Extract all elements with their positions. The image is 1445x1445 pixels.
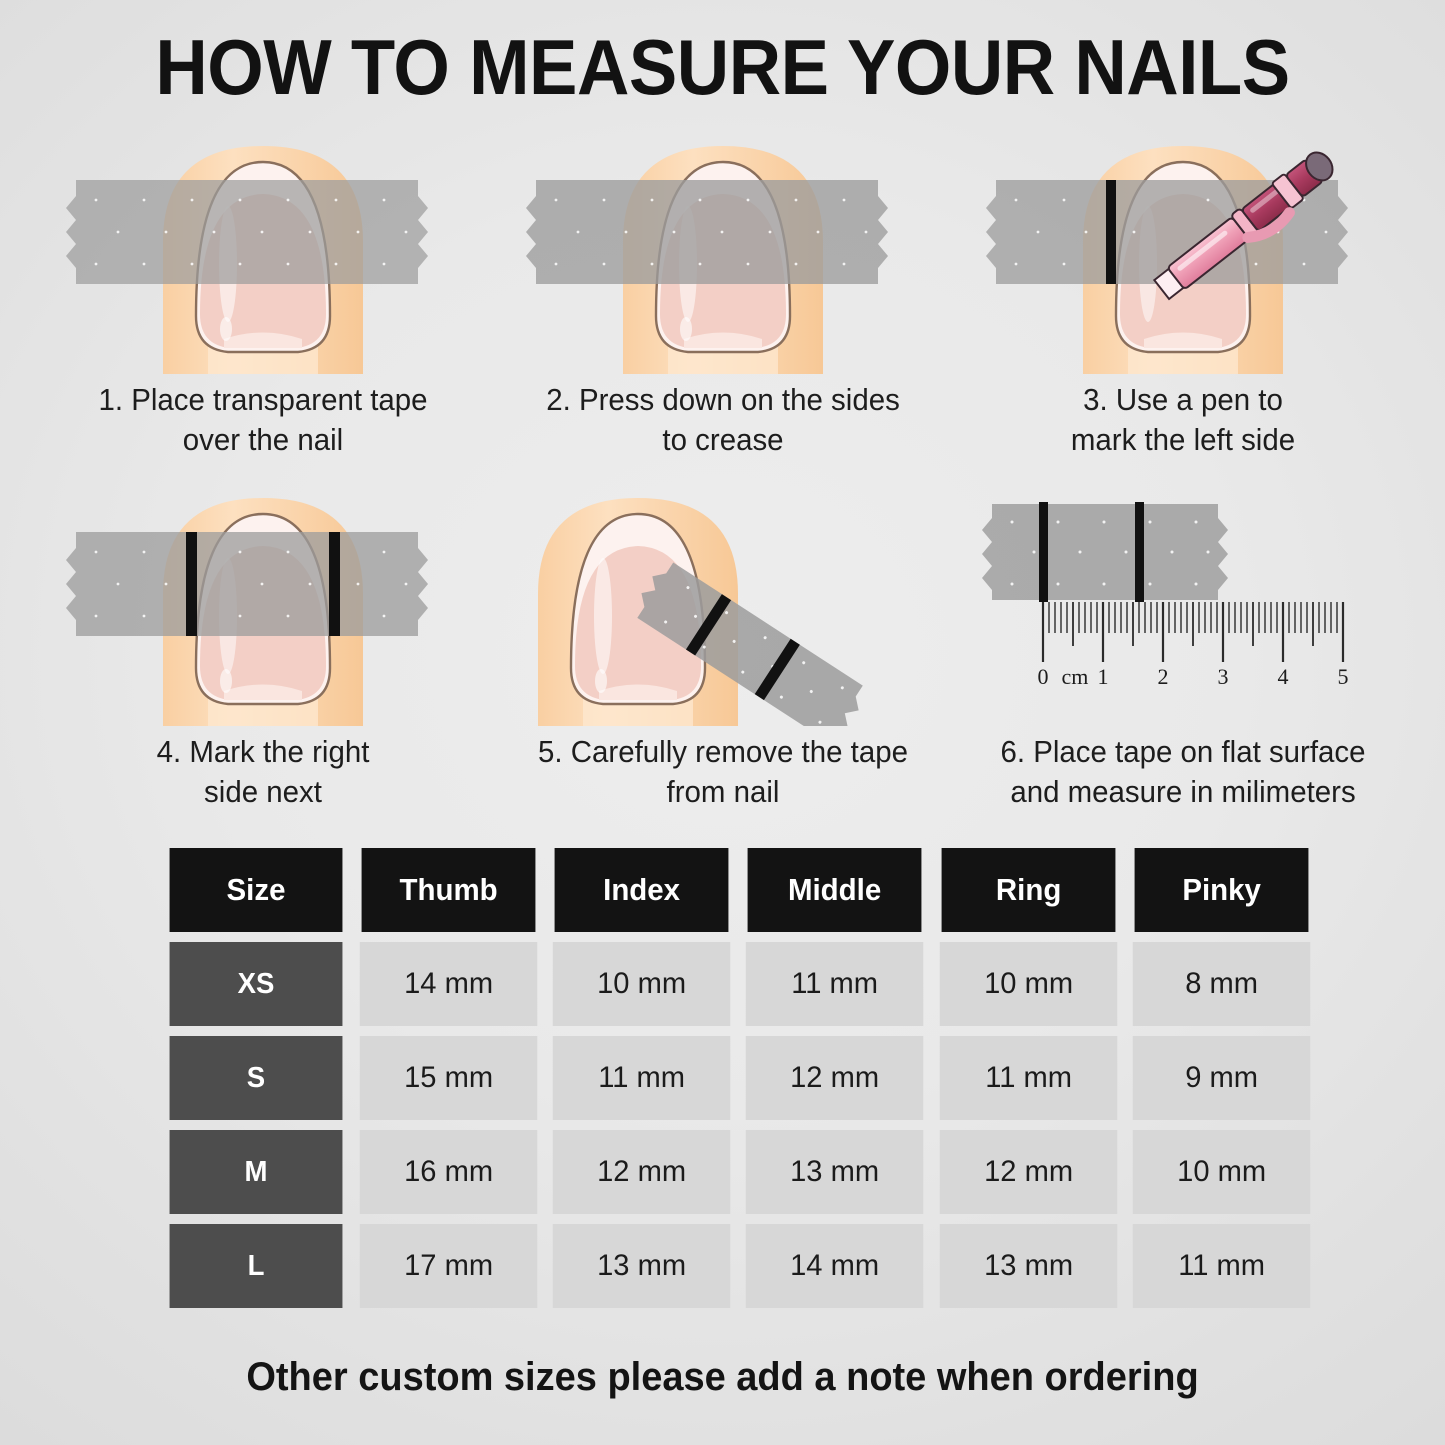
tape-on-ruler-svg: 0 cm 1 2 3 4 5 (968, 476, 1398, 726)
step-1-caption-line1: 1. Place transparent tape (59, 380, 468, 420)
nail-highlight-small (220, 669, 232, 693)
ruler-labels: 0 cm 1 2 3 4 5 (1038, 664, 1349, 689)
step-5-caption: 5. Carefully remove the tape from nail (519, 732, 928, 812)
size-label-l: L (170, 1224, 343, 1308)
nail-highlight (594, 558, 612, 674)
table-row: S 15 mm 11 mm 12 mm 11 mm 9 mm (165, 1036, 1313, 1120)
table-header-pinky: Pinky (1134, 848, 1308, 932)
step-1-illustration (48, 124, 478, 374)
page-title: HOW TO MEASURE YOUR NAILS (51, 26, 1395, 108)
ruler-label-5: 5 (1338, 664, 1349, 689)
ruler-label-0: 0 (1038, 664, 1049, 689)
step-6-caption-line1: 6. Place tape on flat surface (979, 732, 1388, 772)
finger-with-tape-svg (48, 124, 478, 374)
step-5-caption-line2: from nail (519, 772, 928, 812)
ruler-label-4: 4 (1278, 664, 1289, 689)
tape-body (982, 504, 1228, 600)
cell-xs-ring: 10 mm (939, 942, 1117, 1026)
cell-xs-middle: 11 mm (746, 942, 924, 1026)
ruler-label-1: 1 (1098, 664, 1109, 689)
cell-l-middle: 14 mm (746, 1224, 924, 1308)
step-6-caption-line2: and measure in milimeters (979, 772, 1388, 812)
table-row: XS 14 mm 10 mm 11 mm 10 mm 8 mm (165, 942, 1313, 1026)
table-header-middle: Middle (748, 848, 922, 932)
cell-xs-index: 10 mm (553, 942, 731, 1026)
tape-strip (982, 502, 1228, 602)
nail-highlight-small (220, 317, 232, 341)
step-5-caption-line1: 5. Carefully remove the tape (519, 732, 928, 772)
step-2-caption: 2. Press down on the sides to crease (519, 380, 928, 460)
size-label-xs: XS (170, 942, 343, 1026)
step-4-illustration (48, 476, 478, 726)
nail-highlight-small (680, 317, 692, 341)
tape-mark-left (1039, 502, 1048, 602)
table-header-ring: Ring (941, 848, 1115, 932)
cell-s-pinky: 9 mm (1132, 1036, 1310, 1120)
cell-m-pinky: 10 mm (1132, 1130, 1310, 1214)
cell-l-pinky: 11 mm (1132, 1224, 1310, 1308)
cell-xs-thumb: 14 mm (360, 942, 538, 1026)
ruler-label-2: 2 (1158, 664, 1169, 689)
tape-mark-right (1135, 502, 1144, 602)
finger-with-tape-creased-svg (508, 124, 938, 374)
pen-mark-left (186, 532, 197, 636)
size-label-m: M (170, 1130, 343, 1214)
step-1-caption: 1. Place transparent tape over the nail (59, 380, 468, 460)
step-5-illustration (508, 476, 938, 726)
tape-peeled-off-nail-svg (508, 476, 938, 726)
step-2-illustration (508, 124, 938, 374)
size-chart-table: Size Thumb Index Middle Ring Pinky XS 14… (155, 838, 1323, 1318)
step-3-illustration (968, 124, 1398, 374)
table-row: M 16 mm 12 mm 13 mm 12 mm 10 mm (165, 1130, 1313, 1214)
step-4-caption-line1: 4. Mark the right (59, 732, 468, 772)
step-3-caption-line2: mark the left side (979, 420, 1388, 460)
step-3-caption: 3. Use a pen to mark the left side (979, 380, 1388, 460)
step-4: 4. Mark the right side next (48, 476, 478, 812)
step-6-caption: 6. Place tape on flat surface and measur… (979, 732, 1388, 812)
finger-tape-two-marks-svg (48, 476, 478, 726)
tape-strip (66, 532, 428, 636)
tape-body (526, 180, 888, 284)
table-row: L 17 mm 13 mm 14 mm 13 mm 11 mm (165, 1224, 1313, 1308)
cell-xs-pinky: 8 mm (1132, 942, 1310, 1026)
step-5: 5. Carefully remove the tape from nail (508, 476, 938, 812)
table-header-index: Index (555, 848, 729, 932)
ruler (1043, 602, 1343, 662)
step-6-illustration: 0 cm 1 2 3 4 5 (968, 476, 1398, 726)
cell-l-index: 13 mm (553, 1224, 731, 1308)
finger-tape-pen-svg (968, 124, 1398, 374)
tape-body (66, 180, 428, 284)
cell-m-middle: 13 mm (746, 1130, 924, 1214)
step-6: 0 cm 1 2 3 4 5 6. Place tape on flat sur… (968, 476, 1398, 812)
footer-note: Other custom sizes please add a note whe… (36, 1355, 1409, 1400)
cell-s-middle: 12 mm (746, 1036, 924, 1120)
step-4-caption: 4. Mark the right side next (59, 732, 468, 812)
ruler-label-3: 3 (1218, 664, 1229, 689)
cell-s-index: 11 mm (553, 1036, 731, 1120)
step-2-caption-line1: 2. Press down on the sides (519, 380, 928, 420)
cell-s-thumb: 15 mm (360, 1036, 538, 1120)
step-3: 3. Use a pen to mark the left side (968, 124, 1398, 460)
cell-l-ring: 13 mm (939, 1224, 1117, 1308)
table-header-thumb: Thumb (362, 848, 536, 932)
step-3-caption-line1: 3. Use a pen to (979, 380, 1388, 420)
ruler-unit-label: cm (1062, 664, 1089, 689)
step-1-caption-line2: over the nail (59, 420, 468, 460)
size-label-s: S (170, 1036, 343, 1120)
pen-mark-left (1106, 180, 1116, 284)
cell-m-thumb: 16 mm (360, 1130, 538, 1214)
step-2: 2. Press down on the sides to crease (508, 124, 938, 460)
table-header-row: Size Thumb Index Middle Ring Pinky (165, 848, 1313, 932)
step-4-caption-line2: side next (59, 772, 468, 812)
step-2-caption-line2: to crease (519, 420, 928, 460)
step-1: 1. Place transparent tape over the nail (48, 124, 478, 460)
cell-l-thumb: 17 mm (360, 1224, 538, 1308)
tape-strip (526, 180, 888, 284)
pen-mark-right (329, 532, 340, 636)
tape-body (66, 532, 428, 636)
cell-m-index: 12 mm (553, 1130, 731, 1214)
tape-strip (66, 180, 428, 284)
cell-s-ring: 11 mm (939, 1036, 1117, 1120)
nail-highlight-small (595, 669, 607, 693)
table-header-size: Size (170, 848, 343, 932)
cell-m-ring: 12 mm (939, 1130, 1117, 1214)
